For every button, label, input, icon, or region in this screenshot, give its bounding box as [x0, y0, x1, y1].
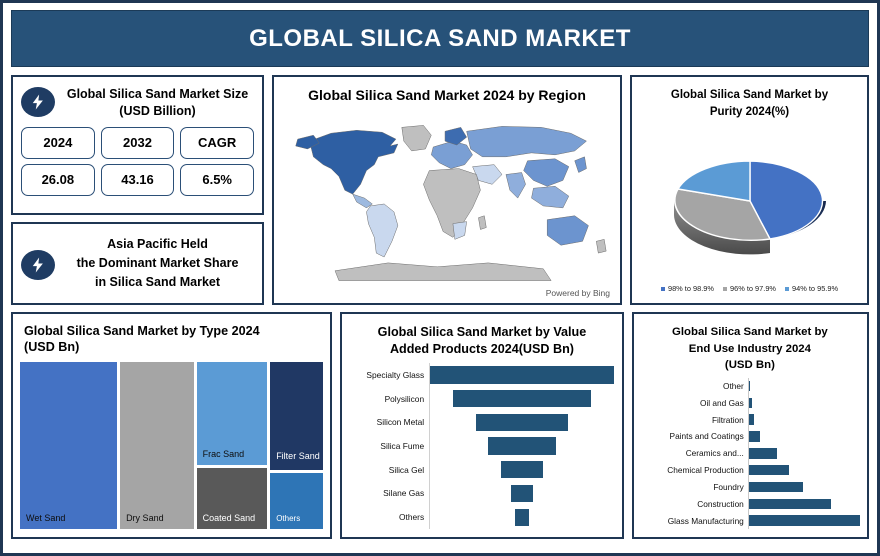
funnel-title-line2: Added Products 2024(USD Bn) — [352, 341, 612, 358]
treemap-tile-wet-sand[interactable]: Wet Sand — [20, 362, 117, 529]
funnel-bar-others[interactable] — [515, 509, 530, 526]
bottom-row: Global Silica Sand Market by Type 2024 (… — [11, 312, 869, 539]
treemap-tile-dry-sand[interactable]: Dry Sand — [120, 362, 194, 529]
pie-title: Global Silica Sand Market by Purity 2024… — [638, 83, 861, 120]
map-attribution: Powered by Bing — [546, 288, 610, 298]
enduse-bar-filtration[interactable] — [749, 414, 755, 424]
highlight-note-panel: Asia Pacific Held the Dominant Market Sh… — [11, 222, 264, 305]
legend-label: 98% to 98.9% — [668, 284, 714, 293]
value-cell-year-base: 26.08 — [21, 164, 95, 196]
market-size-table: 2024 2032 CAGR 26.08 43.16 6.5% — [21, 127, 254, 196]
pie-chart-svg — [655, 143, 845, 261]
enduse-bar-glass-manufacturing[interactable] — [749, 515, 860, 525]
treemap-title-line1: Global Silica Sand Market by Type 2024 — [24, 323, 321, 339]
enduse-label: Chemical Production — [640, 462, 748, 479]
enduse-row — [749, 512, 860, 529]
enduse-row — [749, 394, 860, 411]
legend-item-98-98-9: 98% to 98.9% — [661, 284, 714, 293]
legend-swatch-icon — [723, 287, 727, 291]
funnel-label: Silicon Metal — [350, 410, 429, 434]
map-title: Global Silica Sand Market 2024 by Region — [280, 83, 614, 105]
funnel-bars — [430, 363, 614, 529]
funnel-row — [430, 363, 614, 387]
pie-chart-area — [638, 120, 861, 284]
legend-item-96-97-9: 96% to 97.9% — [723, 284, 776, 293]
map-region-china — [524, 159, 569, 187]
enduse-category-axis: Other Oil and Gas Filtration Paints and … — [640, 378, 748, 529]
note-line-3: in Silica Sand Market — [61, 273, 254, 292]
enduse-bar-other[interactable] — [749, 381, 750, 391]
enduse-title: Global Silica Sand Market by End Use Ind… — [640, 320, 860, 378]
enduse-plot — [748, 378, 860, 529]
highlight-note-text: Asia Pacific Held the Dominant Market Sh… — [61, 235, 254, 291]
map-region-europe — [431, 141, 472, 169]
funnel-label: Silica Fume — [350, 434, 429, 458]
enduse-label: Ceramics and... — [640, 445, 748, 462]
lightning-bolt-icon — [21, 87, 55, 117]
enduse-label: Filtration — [640, 411, 748, 428]
treemap-tile-filter-sand[interactable]: Filter Sand — [270, 362, 323, 470]
enduse-row — [749, 445, 860, 462]
funnel-body: Specialty Glass Polysilicon Silicon Meta… — [350, 363, 614, 529]
enduse-row — [749, 428, 860, 445]
funnel-title-line1: Global Silica Sand Market by Value — [352, 324, 612, 341]
legend-label: 94% to 95.9% — [792, 284, 838, 293]
funnel-title: Global Silica Sand Market by Value Added… — [350, 320, 614, 363]
enduse-title-line2: End Use Industry 2024 — [642, 341, 858, 358]
header-cell-year-base: 2024 — [21, 127, 95, 159]
treemap-tile-label: Coated Sand — [203, 513, 256, 524]
pie-title-line1: Global Silica Sand Market by — [642, 87, 857, 104]
funnel-row — [430, 434, 614, 458]
enduse-label: Construction — [640, 495, 748, 512]
header-cell-year-forecast: 2032 — [101, 127, 175, 159]
page-title: GLOBAL SILICA SAND MARKET — [249, 25, 631, 53]
value-cell-year-forecast: 43.16 — [101, 164, 175, 196]
note-line-1: Asia Pacific Held — [61, 235, 254, 254]
funnel-bar-silicon-metal[interactable] — [476, 414, 568, 431]
funnel-row — [430, 410, 614, 434]
funnel-bar-silane-gas[interactable] — [511, 485, 533, 502]
funnel-bar-silica-gel[interactable] — [501, 461, 543, 478]
funnel-row — [430, 387, 614, 411]
market-size-title-line1: Global Silica Sand Market Size — [67, 87, 248, 101]
funnel-row — [430, 482, 614, 506]
legend-label: 96% to 97.9% — [730, 284, 776, 293]
treemap-tile-label: Dry Sand — [126, 513, 164, 524]
funnel-row — [430, 505, 614, 529]
map-region-antarctica — [335, 263, 551, 281]
map-region-scandinavia — [445, 127, 467, 145]
pie-legend: 98% to 98.9% 96% to 97.9% 94% to 95.9% — [638, 284, 861, 298]
funnel-label: Others — [350, 505, 429, 529]
map-region-russia — [467, 126, 587, 156]
enduse-bar-ceramics[interactable] — [749, 448, 777, 458]
funnel-row — [430, 458, 614, 482]
treemap-column-1: Wet Sand — [20, 362, 117, 529]
enduse-title-line3: (USD Bn) — [642, 357, 858, 374]
pie-title-line2: Purity 2024(%) — [642, 104, 857, 121]
map-region-north-america — [309, 130, 397, 194]
legend-swatch-icon — [661, 287, 665, 291]
treemap-tile-label: Frac Sand — [203, 449, 245, 460]
header-cell-cagr: CAGR — [180, 127, 254, 159]
enduse-bar-paints-and-coatings[interactable] — [749, 431, 760, 441]
enduse-label: Paints and Coatings — [640, 428, 748, 445]
treemap-title: Global Silica Sand Market by Type 2024 (… — [20, 320, 323, 362]
treemap-tile-coated-sand[interactable]: Coated Sand — [197, 468, 268, 529]
world-map-svg — [280, 105, 614, 299]
end-use-industry-panel: Global Silica Sand Market by End Use Ind… — [632, 312, 869, 539]
region-map-panel: Global Silica Sand Market 2024 by Region — [272, 75, 622, 305]
table-header-row: 2024 2032 CAGR — [21, 127, 254, 159]
enduse-label: Foundry — [640, 479, 748, 496]
world-map: Powered by Bing — [280, 105, 614, 299]
enduse-label: Other — [640, 378, 748, 395]
type-treemap-panel: Global Silica Sand Market by Type 2024 (… — [11, 312, 332, 539]
funnel-bar-specialty-glass[interactable] — [430, 366, 614, 383]
funnel-label: Silica Gel — [350, 458, 429, 482]
enduse-row — [749, 495, 860, 512]
map-region-japan — [575, 157, 587, 173]
map-region-southeast-asia — [531, 186, 568, 208]
map-region-australia — [547, 216, 588, 245]
map-region-south-america — [366, 204, 397, 257]
treemap-tile-others[interactable]: Others — [270, 473, 323, 529]
treemap-tile-label: Others — [276, 514, 300, 524]
enduse-row — [749, 378, 860, 395]
legend-item-94-95-9: 94% to 95.9% — [785, 284, 838, 293]
funnel-label: Polysilicon — [350, 387, 429, 411]
left-column-top: Global Silica Sand Market Size (USD Bill… — [11, 75, 264, 305]
note-line-2: the Dominant Market Share — [61, 254, 254, 273]
enduse-row — [749, 462, 860, 479]
treemap-tile-frac-sand[interactable]: Frac Sand — [197, 362, 268, 466]
map-region-southern-africa — [453, 222, 467, 240]
enduse-row — [749, 411, 860, 428]
treemap-title-line2: (USD Bn) — [24, 339, 321, 355]
treemap-column-3: Frac Sand Coated Sand — [197, 362, 268, 529]
enduse-bar-oil-and-gas[interactable] — [749, 398, 752, 408]
map-region-new-zealand — [596, 239, 606, 253]
treemap-tile-label: Filter Sand — [276, 451, 320, 462]
map-region-india — [506, 173, 526, 199]
enduse-title-line1: Global Silica Sand Market by — [642, 324, 858, 341]
map-region-madagascar — [478, 216, 486, 230]
map-region-africa — [423, 169, 480, 238]
treemap-tile-label: Wet Sand — [26, 513, 65, 524]
enduse-label: Glass Manufacturing — [640, 512, 748, 529]
enduse-body: Other Oil and Gas Filtration Paints and … — [640, 378, 860, 529]
market-size-title-line2: (USD Billion) — [61, 103, 254, 120]
enduse-bar-construction[interactable] — [749, 499, 831, 509]
enduse-label: Oil and Gas — [640, 394, 748, 411]
top-row: Global Silica Sand Market Size (USD Bill… — [11, 75, 869, 305]
treemap-column-2: Dry Sand — [120, 362, 194, 529]
legend-swatch-icon — [785, 287, 789, 291]
market-size-header: Global Silica Sand Market Size (USD Bill… — [21, 85, 254, 120]
funnel-bar-polysilicon[interactable] — [453, 390, 591, 407]
map-region-greenland — [402, 125, 431, 151]
market-size-panel: Global Silica Sand Market Size (USD Bill… — [11, 75, 264, 215]
page-header: GLOBAL SILICA SAND MARKET — [11, 10, 869, 67]
infographic-page: GLOBAL SILICA SAND MARKET Global Silica … — [0, 0, 880, 556]
market-size-title: Global Silica Sand Market Size (USD Bill… — [61, 85, 254, 120]
funnel-label: Specialty Glass — [350, 363, 429, 387]
enduse-bar-foundry[interactable] — [749, 482, 803, 492]
enduse-row — [749, 479, 860, 496]
funnel-label: Silane Gas — [350, 482, 429, 506]
purity-pie-panel: Global Silica Sand Market by Purity 2024… — [630, 75, 869, 305]
funnel-bar-silica-fume[interactable] — [488, 437, 556, 454]
treemap-column-4: Filter Sand Others — [270, 362, 323, 529]
table-value-row: 26.08 43.16 6.5% — [21, 164, 254, 196]
enduse-bar-chemical-production[interactable] — [749, 465, 789, 475]
treemap-body: Wet Sand Dry Sand Frac Sand Coated Sand — [20, 362, 323, 529]
lightning-bolt-icon — [21, 250, 55, 280]
map-region-central-america — [353, 194, 373, 208]
value-added-funnel-panel: Global Silica Sand Market by Value Added… — [340, 312, 624, 539]
value-cell-cagr: 6.5% — [180, 164, 254, 196]
funnel-category-axis: Specialty Glass Polysilicon Silicon Meta… — [350, 363, 430, 529]
